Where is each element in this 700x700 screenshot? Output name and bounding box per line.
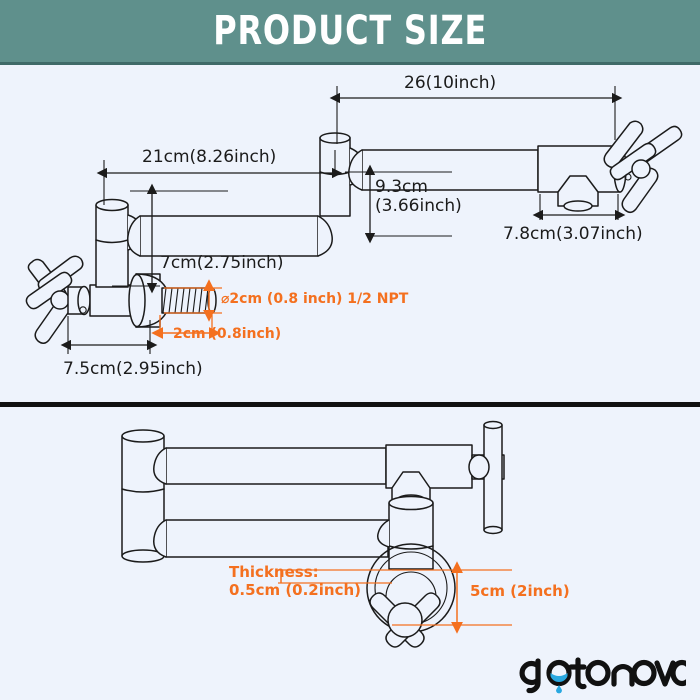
brand-logo	[516, 652, 686, 694]
dimension-label-handle-drop-height: 5cm (2inch)	[470, 583, 570, 601]
product-size-infographic: PRODUCT SIZE	[0, 0, 700, 700]
dimension-label-escutcheon-thickness: Thickness: 0.5cm (0.2inch)	[229, 564, 361, 599]
thickness-label-line2: 0.5cm (0.2inch)	[229, 582, 361, 600]
logo-wordmark	[522, 660, 686, 691]
thickness-label-line1: Thickness:	[229, 564, 361, 582]
